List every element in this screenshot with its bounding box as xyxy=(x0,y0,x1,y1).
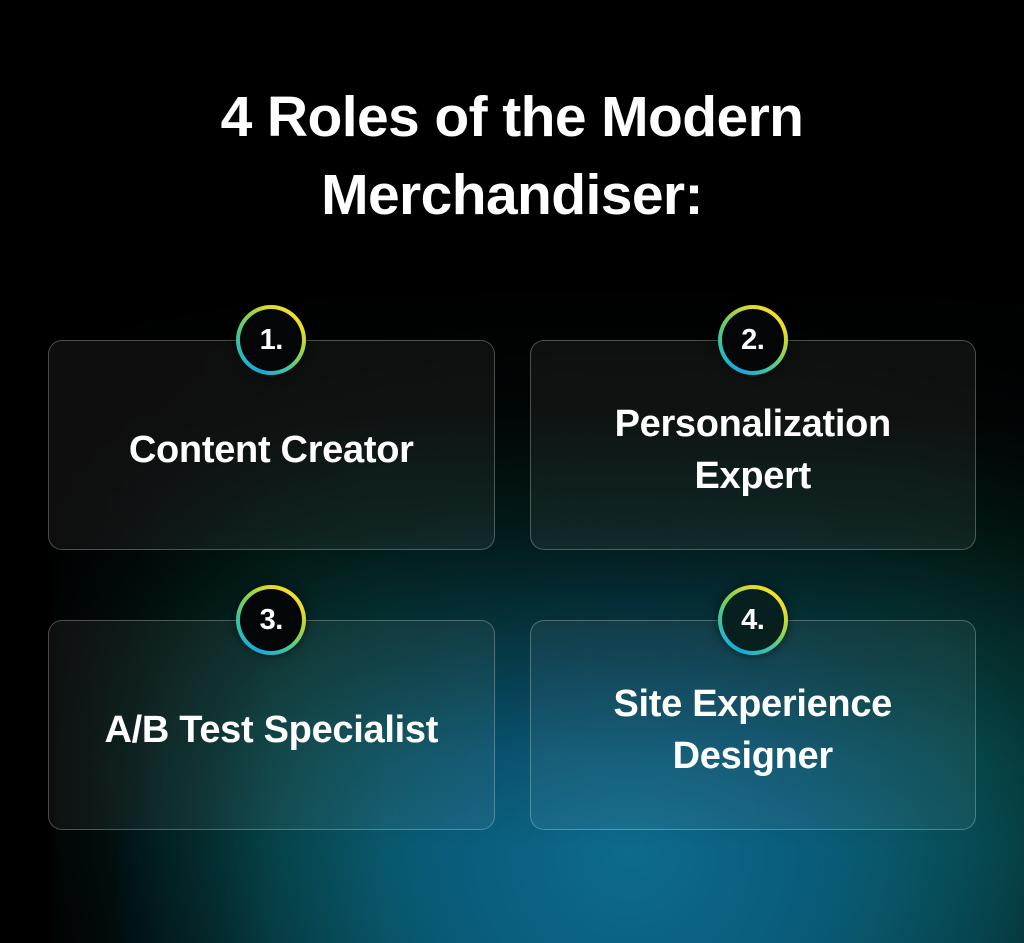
role-badge-3: 3. xyxy=(236,585,306,655)
infographic-page: 4 Roles of the Modern Merchandiser: Cont… xyxy=(0,0,1024,943)
role-card-4-label: Site Experience Designer xyxy=(555,678,952,783)
role-badge-1: 1. xyxy=(236,305,306,375)
role-card-3-label: A/B Test Specialist xyxy=(104,704,438,756)
roles-row-2: A/B Test Specialist 3. Site Experience D… xyxy=(48,620,976,830)
role-badge-2-inner: 2. xyxy=(722,309,784,371)
role-card-2-label: Personalization Expert xyxy=(555,398,952,503)
role-badge-2-number: 2. xyxy=(741,326,764,355)
role-badge-2: 2. xyxy=(718,305,788,375)
role-badge-4-inner: 4. xyxy=(722,589,784,651)
role-card-1-label: Content Creator xyxy=(129,424,414,476)
role-cell-3: A/B Test Specialist 3. xyxy=(48,620,495,830)
role-badge-1-number: 1. xyxy=(260,326,283,355)
role-cell-2: Personalization Expert 2. xyxy=(530,340,977,550)
role-badge-3-inner: 3. xyxy=(240,589,302,651)
role-badge-4: 4. xyxy=(718,585,788,655)
role-cell-4: Site Experience Designer 4. xyxy=(530,620,977,830)
role-cell-1: Content Creator 1. xyxy=(48,340,495,550)
roles-grid: Content Creator 1. Personalization Exper… xyxy=(48,340,976,830)
role-badge-3-number: 3. xyxy=(260,606,283,635)
roles-row-1: Content Creator 1. Personalization Exper… xyxy=(48,340,976,550)
role-badge-4-number: 4. xyxy=(741,606,764,635)
page-title: 4 Roles of the Modern Merchandiser: xyxy=(112,78,912,234)
role-badge-1-inner: 1. xyxy=(240,309,302,371)
